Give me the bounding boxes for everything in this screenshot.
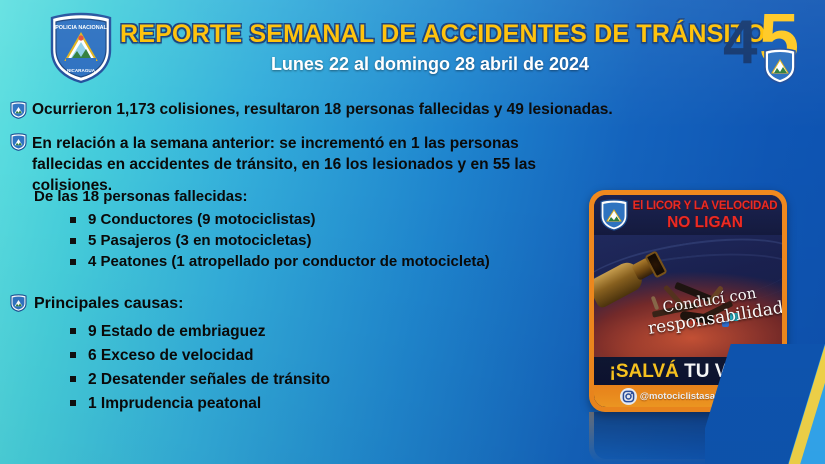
poster-headline-line2: NO LIGAN bbox=[632, 214, 778, 232]
anniversary-45-logo: 4 5 bbox=[725, 4, 817, 90]
svg-text:NICARAGUA: NICARAGUA bbox=[67, 68, 96, 73]
police-shield-bullet-icon bbox=[10, 101, 27, 119]
anniversary-digit-4: 4 bbox=[723, 12, 757, 74]
police-shield-crest-icon: POLICIA NACIONAL NICARAGUA bbox=[46, 12, 116, 84]
page-subtitle: Lunes 22 al domingo 28 abril de 2024 bbox=[120, 54, 740, 75]
summary-line-1: Ocurrieron 1,173 colisiones, resultaron … bbox=[32, 101, 613, 119]
list-item: 6 Exceso de velocidad bbox=[66, 344, 330, 368]
causes-list: 9 Estado de embriaguez 6 Exceso de veloc… bbox=[66, 320, 330, 416]
summary-line-2: En relación a la semana anterior: se inc… bbox=[32, 133, 572, 196]
police-shield-badge-icon bbox=[763, 48, 797, 84]
police-shield-bullet-icon bbox=[10, 133, 27, 151]
poster-header: El LICOR Y LA VELOCIDAD NO LIGAN bbox=[594, 195, 782, 235]
report-slide: POLICIA NACIONAL NICARAGUA REPORTE SEMAN… bbox=[0, 0, 825, 464]
police-shield-crest-icon bbox=[599, 199, 629, 231]
poster-headline-line1: El LICOR Y LA VELOCIDAD bbox=[632, 200, 778, 212]
corner-accent-stripes bbox=[705, 344, 825, 464]
list-item: 1 Imprudencia peatonal bbox=[66, 392, 330, 416]
list-item: 2 Desatender señales de tránsito bbox=[66, 368, 330, 392]
page-title: REPORTE SEMANAL DE ACCIDENTES DE TRÁNSIT… bbox=[120, 20, 740, 49]
poster-footer-highlight: ¡SALVÁ bbox=[610, 361, 679, 382]
list-item: 4 Peatones (1 atropellado por conductor … bbox=[66, 251, 490, 272]
list-item: 5 Pasajeros (3 en motocicletas) bbox=[66, 230, 490, 251]
list-item: 9 Estado de embriaguez bbox=[66, 320, 330, 344]
police-shield-bullet-icon bbox=[10, 294, 27, 312]
list-item: 9 Conductores (9 motociclistas) bbox=[66, 209, 490, 230]
fatalities-heading: De las 18 personas fallecidas: bbox=[34, 188, 247, 205]
causes-heading: Principales causas: bbox=[34, 295, 183, 313]
title-block: REPORTE SEMANAL DE ACCIDENTES DE TRÁNSIT… bbox=[120, 20, 740, 75]
instagram-icon bbox=[620, 388, 637, 405]
fatalities-list: 9 Conductores (9 motociclistas) 5 Pasaje… bbox=[66, 209, 490, 272]
slide-header: POLICIA NACIONAL NICARAGUA REPORTE SEMAN… bbox=[0, 0, 825, 92]
svg-text:POLICIA NACIONAL: POLICIA NACIONAL bbox=[55, 25, 107, 31]
